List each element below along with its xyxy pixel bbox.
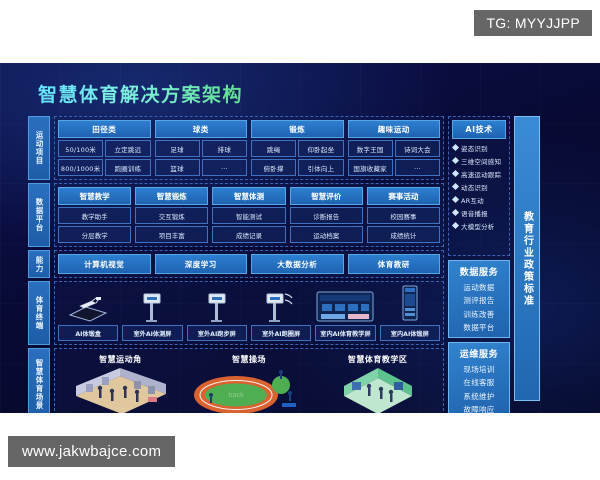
band-body-terminal: AI体锻盒 室外AI体测屏 [54, 281, 444, 345]
scene-caption: 智慧操场 [232, 354, 266, 365]
ai-item-label: 姿态识别 [461, 143, 488, 153]
svg-text:track: track [228, 392, 244, 399]
sport-cell[interactable]: 跑圈训练 [105, 159, 150, 176]
sport-cell[interactable]: 800/1000米 [58, 159, 103, 176]
sport-cell[interactable]: 诗词大会 [395, 140, 440, 157]
diamond-bullet-icon [452, 209, 459, 216]
sport-category-track[interactable]: 田径类 50/100米 立定跳远 800/1000米 跑圈训练 [58, 120, 151, 176]
data-service-item[interactable]: 数据平台 [463, 322, 494, 333]
platform-module-head: 智慧教学 [58, 187, 131, 205]
platform-module-item[interactable]: 校园赛事 [367, 207, 440, 224]
terminal-outdoor-running[interactable]: 室外AI跑步屏 [187, 285, 247, 341]
ai-item-label: 语音播报 [461, 208, 488, 218]
diamond-bullet-icon [452, 183, 459, 190]
architecture-middle-column: AI技术 姿态识别 三维空间感知 高速运动跟踪 [448, 116, 510, 401]
ai-item-dynamic-recognition[interactable]: 动态识别 [452, 180, 506, 193]
teaching-area-room-icon [332, 367, 424, 413]
ai-item-voice[interactable]: 语音播报 [452, 206, 506, 219]
platform-module-item[interactable]: 诊断报告 [290, 207, 363, 224]
ops-service-item[interactable]: 现场培训 [463, 364, 494, 375]
sport-category-grid: 50/100米 立定跳远 800/1000米 跑圈训练 [58, 140, 151, 176]
architecture-right-column: 教育行业政策标准 [514, 116, 540, 401]
sport-category-head: 球类 [155, 120, 248, 138]
platform-module-item[interactable]: 智能测试 [212, 207, 285, 224]
terminal-outdoor-lap[interactable]: 室外AI跑圈屏 [251, 285, 311, 341]
terminal-indoor-fitness[interactable]: 室内AI体锻屏 [380, 285, 440, 341]
sport-cell[interactable]: 排球 [202, 140, 247, 157]
ai-item-label: 高速运动跟踪 [461, 169, 501, 179]
sport-cell[interactable]: 数字王国 [348, 140, 393, 157]
data-service-title: 数据服务 [460, 265, 498, 278]
ai-item-pose[interactable]: 姿态识别 [452, 141, 506, 154]
diamond-bullet-icon [452, 222, 459, 229]
sport-cell[interactable]: 跳绳 [251, 140, 296, 157]
scene-caption: 智慧运动角 [99, 354, 142, 365]
band-data-platform: 数据平台 智慧教学 教学助手 分层教学 智慧锻炼 交互锻炼 项目丰富 [28, 183, 444, 247]
sport-category-ball[interactable]: 球类 足球 排球 篮球 … [155, 120, 248, 176]
band-scene: 智慧体育场景 智慧运动角 [28, 348, 444, 413]
band-label-ability: 能力 [28, 250, 50, 278]
diamond-bullet-icon [452, 170, 459, 177]
ai-item-label: 三维空间感知 [461, 156, 501, 166]
page-title: 智慧体育解决方案架构 [38, 80, 243, 107]
ai-technology-panel: AI技术 姿态识别 三维空间感知 高速运动跟踪 [448, 116, 510, 256]
sport-category-fun[interactable]: 趣味运动 数字王国 诗词大会 国旗收藏家 … [348, 120, 441, 176]
ability-item-pe-research[interactable]: 体育教研 [348, 254, 441, 274]
sport-cell[interactable]: 国旗收藏家 [348, 159, 393, 176]
ability-item-big-data[interactable]: 大数据分析 [251, 254, 344, 274]
ai-technology-box: AI技术 姿态识别 三维空间感知 高速运动跟踪 [448, 116, 510, 256]
band-body-sports: 田径类 50/100米 立定跳远 800/1000米 跑圈训练 球类 [54, 116, 444, 180]
band-label-sports: 运动项目 [28, 116, 50, 180]
sport-cell[interactable]: 引体向上 [298, 159, 343, 176]
platform-module-teaching[interactable]: 智慧教学 教学助手 分层教学 [58, 187, 131, 243]
scene-caption: 智慧体育教学区 [348, 354, 408, 365]
ai-item-label: 大模型分析 [461, 221, 495, 231]
band-label-scene: 智慧体育场景 [28, 348, 50, 413]
band-sports: 运动项目 田径类 50/100米 立定跳远 800/1000米 跑圈训练 [28, 116, 444, 180]
sport-cell[interactable]: 足球 [155, 140, 200, 157]
sport-cell[interactable]: 俯卧撑 [251, 159, 296, 176]
ops-service-item[interactable]: 故障响应 [463, 404, 494, 413]
sports-corner-room-icon [66, 367, 174, 413]
platform-module-exercise[interactable]: 智慧锻炼 交互锻炼 项目丰富 [135, 187, 208, 243]
site-watermark-badge: www.jakwbajce.com [8, 436, 175, 467]
platform-module-item[interactable]: 成绩统计 [367, 226, 440, 243]
sport-category-grid: 跳绳 仰卧起坐 俯卧撑 引体向上 [251, 140, 344, 176]
band-terminal: 体育终端 AI体锻盒 [28, 281, 444, 345]
platform-module-item[interactable]: 教学助手 [58, 207, 131, 224]
data-service-item[interactable]: 运动数据 [463, 282, 494, 293]
ai-item-label: 动态识别 [461, 182, 488, 192]
sport-cell[interactable]: … [202, 159, 247, 176]
band-label-data-platform: 数据平台 [28, 183, 50, 247]
sport-cell[interactable]: 50/100米 [58, 140, 103, 157]
terminal-ai-box[interactable]: AI体锻盒 [58, 285, 118, 341]
platform-module-item[interactable]: 成绩记录 [212, 226, 285, 243]
band-body-data-platform: 智慧教学 教学助手 分层教学 智慧锻炼 交互锻炼 项目丰富 智慧体测 智能测试 [54, 183, 444, 247]
outdoor-pole-screen-icon [251, 285, 311, 325]
platform-module-head: 智慧锻炼 [135, 187, 208, 205]
sport-category-head: 趣味运动 [348, 120, 441, 138]
band-label-terminal: 体育终端 [28, 281, 50, 345]
ability-item-deep-learning[interactable]: 深度学习 [155, 254, 248, 274]
ops-service-panel[interactable]: 运维服务 现场培训 在线客服 系统维护 故障响应 [448, 342, 510, 413]
sport-category-head: 田径类 [58, 120, 151, 138]
architecture-poster: 智慧体育解决方案架构 运动项目 田径类 50/100米 立定跳远 800/100… [0, 63, 600, 413]
scene-teaching-area[interactable]: 智慧体育教学区 [315, 352, 440, 413]
diamond-bullet-icon [452, 144, 459, 151]
ai-item-3d-sensing[interactable]: 三维空间感知 [452, 154, 506, 167]
data-service-item[interactable]: 训练改善 [463, 309, 494, 320]
sport-cell[interactable]: … [395, 159, 440, 176]
indoor-tall-screen-icon [380, 285, 440, 325]
sport-cell[interactable]: 仰卧起坐 [298, 140, 343, 157]
terminal-indoor-teaching[interactable]: 室内AI体育教学屏 [315, 285, 375, 341]
terminal-caption: 室内AI体锻屏 [380, 325, 440, 341]
policy-standard-panel[interactable]: 教育行业政策标准 [514, 116, 540, 401]
running-track-icon: track [190, 367, 308, 413]
ai-box-device-icon [58, 285, 118, 325]
platform-module-fitness-test[interactable]: 智慧体测 智能测试 成绩记录 [212, 187, 285, 243]
diamond-bullet-icon [452, 196, 459, 203]
platform-module-item[interactable]: 交互锻炼 [135, 207, 208, 224]
terminal-caption: AI体锻盒 [58, 325, 118, 341]
tg-watermark-badge: TG: MYYJJPP [474, 10, 592, 36]
architecture-frame: 运动项目 田径类 50/100米 立定跳远 800/1000米 跑圈训练 [28, 116, 572, 401]
band-body-scene: 智慧运动角 [54, 348, 444, 413]
platform-module-item[interactable]: 运动档案 [290, 226, 363, 243]
ability-item-cv[interactable]: 计算机视觉 [58, 254, 151, 274]
platform-module-head: 智慧评价 [290, 187, 363, 205]
sport-category-grid: 足球 排球 篮球 … [155, 140, 248, 176]
sport-cell[interactable]: 立定跳远 [105, 140, 150, 157]
ai-item-llm[interactable]: 大模型分析 [452, 219, 506, 232]
sport-category-grid: 数字王国 诗词大会 国旗收藏家 … [348, 140, 441, 176]
outdoor-pole-screen-icon [122, 285, 182, 325]
sport-category-exercise[interactable]: 锻炼 跳绳 仰卧起坐 俯卧撑 引体向上 [251, 120, 344, 176]
band-ability: 能力 计算机视觉 深度学习 大数据分析 体育教研 [28, 250, 444, 278]
indoor-wide-screen-icon [315, 285, 375, 325]
ai-item-motion-tracking[interactable]: 高速运动跟踪 [452, 167, 506, 180]
ops-service-item[interactable]: 系统维护 [463, 391, 494, 402]
ai-item-ar[interactable]: AR互动 [452, 193, 506, 206]
scene-sports-corner[interactable]: 智慧运动角 [58, 352, 183, 413]
terminal-caption: 室外AI跑步屏 [187, 325, 247, 341]
platform-module-head: 智慧体测 [212, 187, 285, 205]
terminal-caption: 室外AI体测屏 [122, 325, 182, 341]
terminal-outdoor-fitness-test[interactable]: 室外AI体测屏 [122, 285, 182, 341]
ai-technology-title: AI技术 [452, 120, 506, 139]
platform-module-item[interactable]: 项目丰富 [135, 226, 208, 243]
terminal-caption: 室内AI体育教学屏 [315, 325, 375, 341]
sport-category-head: 锻炼 [251, 120, 344, 138]
diamond-bullet-icon [452, 157, 459, 164]
platform-module-head: 赛事活动 [367, 187, 440, 205]
outdoor-pole-screen-icon [187, 285, 247, 325]
sport-cell[interactable]: 篮球 [155, 159, 200, 176]
scene-playground[interactable]: 智慧操场 track [187, 352, 312, 413]
architecture-left-column: 运动项目 田径类 50/100米 立定跳远 800/1000米 跑圈训练 [28, 116, 444, 401]
terminal-caption: 室外AI跑圈屏 [251, 325, 311, 341]
platform-module-competition[interactable]: 赛事活动 校园赛事 成绩统计 [367, 187, 440, 243]
platform-module-evaluation[interactable]: 智慧评价 诊断报告 运动档案 [290, 187, 363, 243]
data-service-item[interactable]: 测评报告 [463, 295, 494, 306]
ops-service-item[interactable]: 在线客服 [463, 377, 494, 388]
band-body-ability: 计算机视觉 深度学习 大数据分析 体育教研 [54, 250, 444, 278]
screenshot-root: TG: MYYJJPP www.jakwbajce.com 智慧体育解决方案架构… [0, 0, 600, 480]
ops-service-title: 运维服务 [460, 347, 498, 360]
platform-module-item[interactable]: 分层教学 [58, 226, 131, 243]
data-service-panel[interactable]: 数据服务 运动数据 测评报告 训练改善 数据平台 [448, 260, 510, 338]
ai-item-label: AR互动 [461, 195, 484, 205]
